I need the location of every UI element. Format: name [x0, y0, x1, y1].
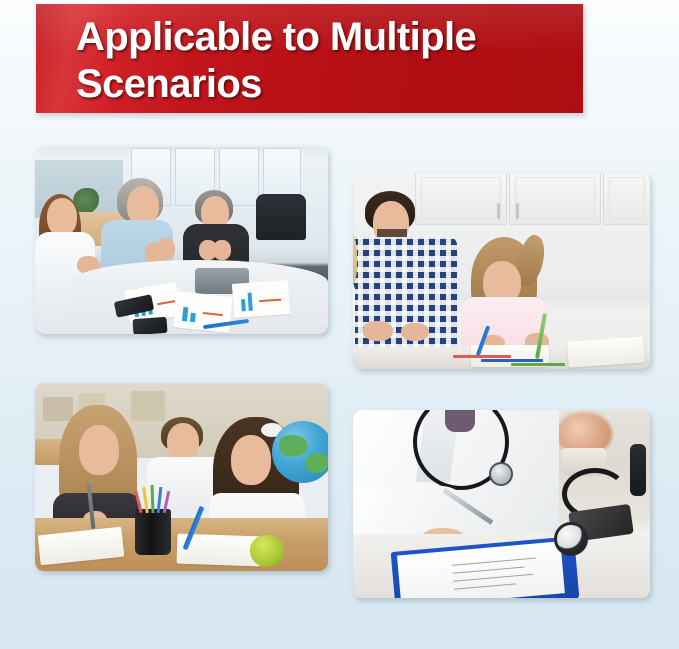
banner-title-line-1: Applicable to Multiple: [76, 17, 476, 57]
shelf-box: [131, 391, 165, 421]
kitchen-cabinet: [509, 173, 601, 225]
panel-hospital: Hospital: [353, 410, 650, 598]
hospital-photo: [353, 410, 650, 598]
hand: [213, 240, 231, 260]
office-chair: [256, 194, 306, 240]
clipboard-paper: [397, 541, 565, 598]
stethoscope-bell: [489, 462, 513, 486]
chart-bar: [241, 299, 246, 311]
pencil: [453, 355, 511, 358]
hand: [363, 321, 393, 341]
panel-school: School: [35, 383, 328, 571]
panel-office: Office: [35, 146, 328, 334]
chart-document: [232, 280, 290, 318]
home-photo: [353, 173, 650, 369]
head: [47, 198, 77, 236]
hand: [157, 238, 175, 260]
notebook: [567, 336, 645, 367]
cabinet-handle: [497, 203, 500, 219]
cabinet-panel: [515, 177, 595, 219]
form-line: [454, 583, 516, 589]
pencil: [481, 359, 543, 362]
form-line: [452, 558, 536, 566]
form-line: [453, 574, 533, 582]
office-photo: [35, 146, 328, 334]
form-line: [453, 567, 525, 574]
chart-bar: [248, 293, 253, 311]
chart-bar: [182, 307, 188, 321]
kitchen-cabinet: [415, 173, 507, 225]
hand: [401, 323, 429, 341]
chart-line: [203, 312, 223, 316]
cabinet-panel: [421, 177, 501, 219]
panel-home: Home: [353, 173, 650, 369]
header-banner: Applicable to Multiple Scenarios: [36, 4, 583, 113]
blood-pressure-gauge: [554, 522, 588, 556]
kitchen-cabinet: [603, 173, 650, 225]
globe: [272, 421, 328, 483]
chart-bar: [190, 313, 196, 322]
shelf-box: [43, 397, 73, 421]
cuff-tube: [630, 444, 646, 496]
pencil: [511, 363, 565, 366]
school-photo: [35, 383, 328, 571]
head: [167, 423, 199, 461]
banner-title-line-2: Scenarios: [76, 64, 262, 104]
chart-line: [157, 300, 175, 305]
apple: [250, 535, 284, 567]
head: [79, 425, 119, 475]
smartphone: [132, 317, 167, 334]
cabinet-handle: [516, 203, 519, 219]
head: [231, 435, 271, 485]
pencil-cup: [135, 509, 171, 555]
cabinet-panel: [609, 177, 645, 219]
chart-line: [259, 299, 281, 303]
